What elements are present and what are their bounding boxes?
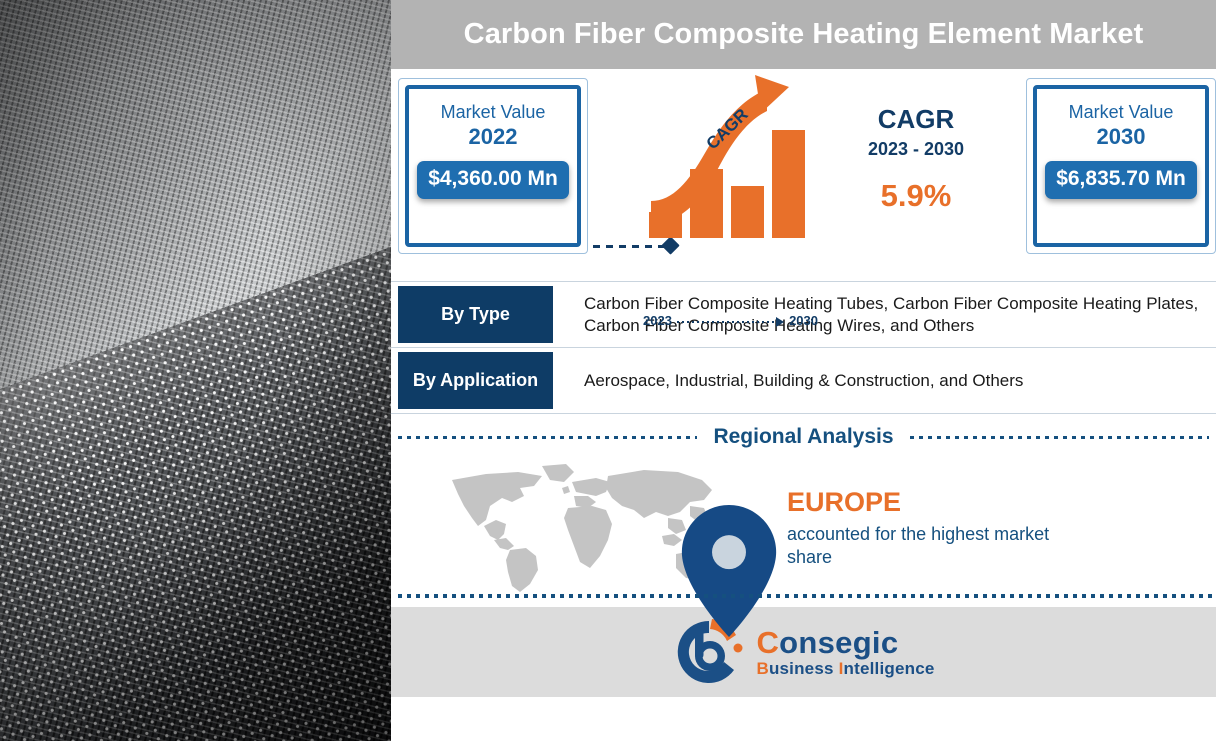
page-title: Carbon Fiber Composite Heating Element M… [464, 18, 1144, 51]
market-value-label-right: Market Value [1069, 101, 1174, 123]
cagr-range: 2023 - 2030 [821, 137, 1011, 161]
tagline-business: usiness [769, 659, 839, 678]
cagr-text-block: CAGR 2023 - 2030 5.9% [821, 104, 1011, 214]
world-map [446, 462, 746, 594]
regional-analysis-section: Regional Analysis [391, 414, 1216, 607]
dotted-rule-bottom [398, 594, 1216, 598]
segment-row-by-application: By Application Aerospace, Industrial, Bu… [391, 348, 1216, 414]
dotted-rule-left [398, 436, 697, 439]
tagline-b: B [756, 659, 768, 678]
cagr-value: 5.9% [821, 178, 1011, 214]
market-value-label-left: Market Value [441, 101, 546, 123]
cagr-end-year: 2030 [789, 313, 818, 328]
tagline-intelligence: ntelligence [844, 659, 935, 678]
brand-tagline: Business Intelligence [756, 660, 934, 677]
content-panel: Carbon Fiber Composite Heating Element M… [391, 0, 1216, 741]
location-pin-icon [585, 505, 605, 533]
segment-body-by-application: Aerospace, Industrial, Building & Constr… [553, 348, 1216, 413]
photo-vignette [0, 0, 391, 741]
market-value-year-right: 2030 [1097, 124, 1146, 150]
infographic-page: Carbon Fiber Composite Heating Element M… [0, 0, 1216, 741]
market-value-card-2022: Market Value 2022 $4,360.00 Mn [398, 78, 588, 254]
segment-header-by-type: By Type [398, 286, 553, 343]
cagr-growth-chart-icon: CAGR [643, 73, 818, 253]
cagr-title: CAGR [821, 104, 1011, 134]
market-value-band: Market Value 2022 $4,360.00 Mn [391, 69, 1216, 282]
market-value-card-2030: Market Value 2030 $6,835.70 Mn [1026, 78, 1216, 254]
regional-analysis-title: Regional Analysis [697, 425, 909, 449]
market-value-amount-right: $6,835.70 Mn [1045, 161, 1197, 199]
segment-header-by-application: By Application [398, 352, 553, 409]
market-value-card-inner: Market Value 2030 $6,835.70 Mn [1033, 85, 1209, 247]
carbon-fiber-weave-photo [0, 0, 391, 741]
cagr-axis-arrow-icon [677, 316, 784, 326]
regional-analysis-body: EUROPE accounted for the highest market … [391, 460, 1216, 594]
title-bar: Carbon Fiber Composite Heating Element M… [391, 0, 1216, 69]
cagr-year-axis: 2023 2030 [643, 313, 818, 328]
market-value-card-inner: Market Value 2022 $4,360.00 Mn [405, 85, 581, 247]
market-value-amount-left: $4,360.00 Mn [417, 161, 569, 199]
dotted-rule-right [910, 436, 1209, 439]
regional-analysis-header: Regional Analysis [391, 414, 1216, 460]
cagr-start-year: 2023 [643, 313, 672, 328]
market-value-year-left: 2022 [469, 124, 518, 150]
